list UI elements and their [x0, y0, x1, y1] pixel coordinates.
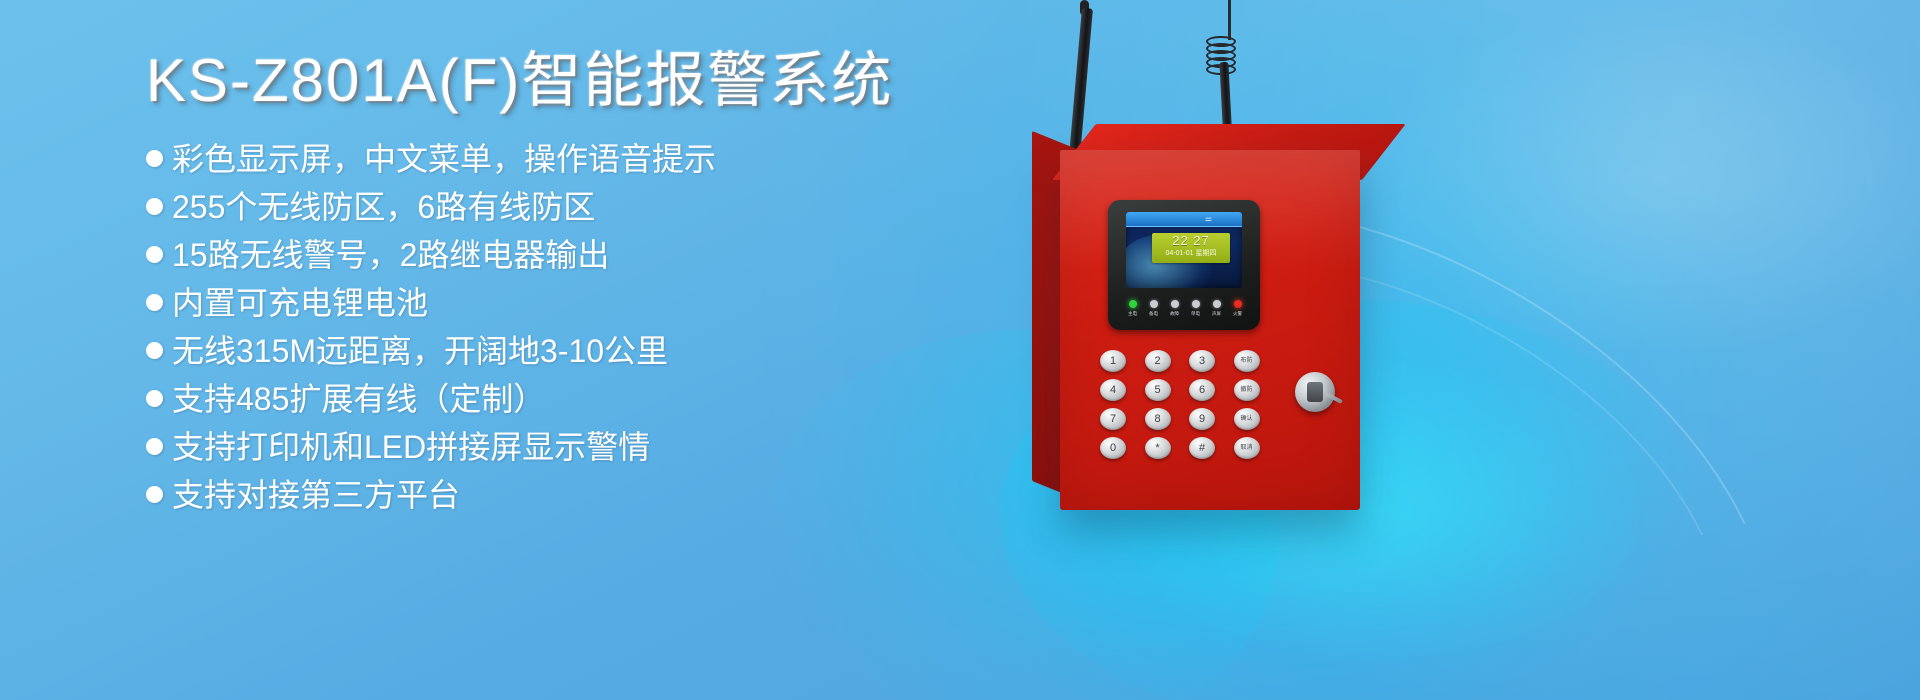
list-item: 255个无线防区，6路有线防区: [146, 183, 946, 231]
list-item: 支持打印机和LED拼接屏显示警情: [146, 423, 946, 471]
list-item: 支持对接第三方平台: [146, 471, 946, 519]
feature-text: 支持对接第三方平台: [172, 471, 460, 519]
keypad-key[interactable]: 确认: [1234, 408, 1260, 430]
lcd-clock-panel: 22 27 04-01-01 星期四: [1152, 233, 1230, 263]
led-label: 主电: [1124, 310, 1141, 317]
feature-text: 支持485扩展有线（定制）: [172, 375, 545, 423]
list-item: 15路无线警号，2路继电器输出: [146, 231, 946, 279]
keypad[interactable]: 1 2 3 布防 4 5 6 撤防 7 8 9 确认 0 * # 取消: [1100, 350, 1270, 459]
display-bezel: ⚌ 22 27 04-01-01 星期四 主电: [1108, 200, 1260, 330]
led-lamp-icon: [1150, 300, 1158, 308]
banner-copy: KS-Z801A(F)智能报警系统 彩色显示屏，中文菜单，操作语音提示 255个…: [146, 46, 946, 519]
bullet-icon: [146, 150, 163, 167]
keypad-key[interactable]: 3: [1189, 350, 1215, 372]
bullet-icon: [146, 438, 163, 455]
bullet-icon: [146, 198, 163, 215]
feature-text: 无线315M远距离，开阔地3-10公里: [172, 327, 668, 375]
feature-text: 内置可充电锂电池: [172, 279, 428, 327]
bullet-icon: [146, 342, 163, 359]
list-item: 支持485扩展有线（定制）: [146, 375, 946, 423]
antenna-icon: ⚌: [1205, 214, 1212, 224]
lcd-screen: ⚌ 22 27 04-01-01 星期四: [1126, 212, 1242, 288]
led-indicator: 故障: [1166, 300, 1183, 317]
led-label: 故障: [1166, 310, 1183, 317]
led-indicator: 火警: [1229, 300, 1246, 317]
keypad-key[interactable]: 6: [1189, 379, 1215, 401]
bullet-icon: [146, 294, 163, 311]
keypad-key[interactable]: 2: [1145, 350, 1171, 372]
keypad-key[interactable]: 9: [1189, 408, 1215, 430]
feature-text: 15路无线警号，2路继电器输出: [172, 231, 609, 279]
keypad-key[interactable]: 0: [1100, 437, 1126, 459]
keypad-key[interactable]: 撤防: [1234, 379, 1260, 401]
led-label: 声屏: [1208, 310, 1225, 317]
bullet-icon: [146, 246, 163, 263]
led-lamp-icon: [1234, 300, 1242, 308]
keypad-key[interactable]: 布防: [1234, 350, 1260, 372]
feature-list: 彩色显示屏，中文菜单，操作语音提示 255个无线防区，6路有线防区 15路无线警…: [146, 135, 946, 519]
feature-text: 支持打印机和LED拼接屏显示警情: [172, 423, 650, 471]
lcd-date: 04-01-01 星期四: [1152, 248, 1230, 259]
led-indicator: 单电: [1187, 300, 1204, 317]
led-indicator: 备电: [1145, 300, 1162, 317]
lock-key-blade: [1325, 392, 1343, 404]
list-item: 彩色显示屏，中文菜单，操作语音提示: [146, 135, 946, 183]
keypad-key[interactable]: 7: [1100, 408, 1126, 430]
led-lamp-icon: [1213, 300, 1221, 308]
feature-text: 彩色显示屏，中文菜单，操作语音提示: [172, 135, 716, 183]
led-indicator: 声屏: [1208, 300, 1225, 317]
led-indicator-row: 主电 备电 故障 单电: [1124, 300, 1246, 317]
led-lamp-icon: [1171, 300, 1179, 308]
led-label: 火警: [1229, 310, 1246, 317]
lcd-weekday: 星期四: [1195, 250, 1216, 257]
bullet-icon: [146, 486, 163, 503]
list-item: 无线315M远距离，开阔地3-10公里: [146, 327, 946, 375]
led-indicator: 主电: [1124, 300, 1141, 317]
keypad-key[interactable]: 取消: [1234, 437, 1260, 459]
feature-text: 255个无线防区，6路有线防区: [172, 183, 595, 231]
keypad-key[interactable]: *: [1145, 437, 1171, 459]
led-lamp-icon: [1129, 300, 1137, 308]
alarm-panel-product-image: ⚌ 22 27 04-01-01 星期四 主电: [940, 0, 1920, 700]
antenna-whip: [1228, 0, 1231, 40]
lcd-status-bar: ⚌: [1126, 212, 1242, 227]
keypad-key[interactable]: #: [1189, 437, 1215, 459]
lcd-date-value: 04-01-01: [1166, 250, 1194, 257]
enclosure-face: ⚌ 22 27 04-01-01 星期四 主电: [1060, 150, 1360, 510]
led-label: 单电: [1187, 310, 1204, 317]
keypad-key[interactable]: 5: [1145, 379, 1171, 401]
list-item: 内置可充电锂电池: [146, 279, 946, 327]
bullet-icon: [146, 390, 163, 407]
lcd-time: 22 27: [1152, 233, 1230, 248]
product-title: KS-Z801A(F)智能报警系统: [146, 46, 946, 115]
keypad-key[interactable]: 1: [1100, 350, 1126, 372]
led-label: 备电: [1145, 310, 1162, 317]
keypad-key[interactable]: 8: [1145, 408, 1171, 430]
product-banner: KS-Z801A(F)智能报警系统 彩色显示屏，中文菜单，操作语音提示 255个…: [0, 0, 1920, 700]
keypad-key[interactable]: 4: [1100, 379, 1126, 401]
key-lock-icon[interactable]: [1295, 372, 1335, 412]
led-lamp-icon: [1192, 300, 1200, 308]
